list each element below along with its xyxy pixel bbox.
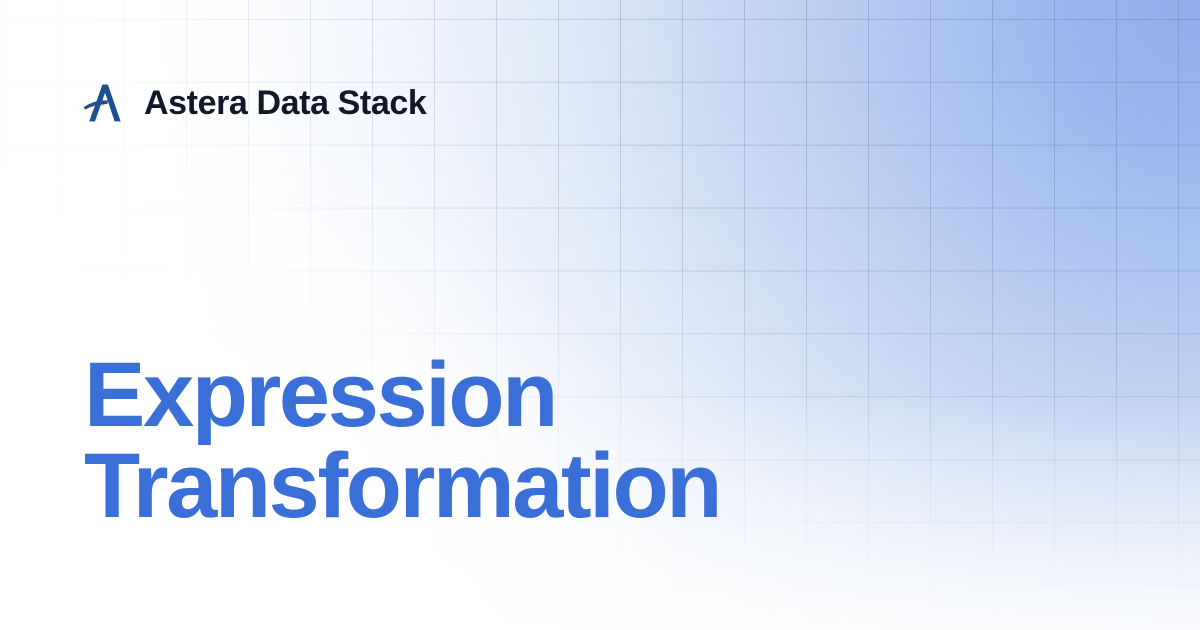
page-title-line-2: Transformation [84,441,720,532]
og-card: Astera Data Stack Expression Transformat… [0,0,1200,630]
brand-name: Astera Data Stack [144,86,426,120]
page-title: Expression Transformation [84,350,720,532]
brand-lockup: Astera Data Stack [80,79,426,127]
card-content: Astera Data Stack Expression Transformat… [0,0,1200,630]
page-title-line-1: Expression [84,350,720,441]
astera-a-logo-icon [80,79,128,127]
